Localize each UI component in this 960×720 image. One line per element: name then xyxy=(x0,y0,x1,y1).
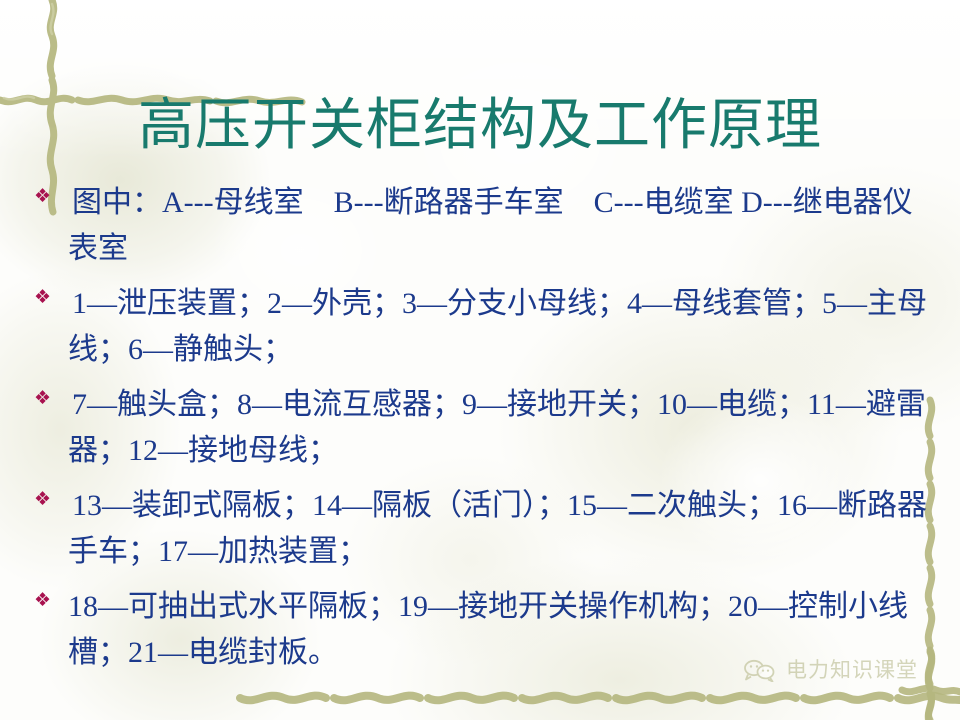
bullet-diamond-icon: ❖ xyxy=(34,281,68,307)
list-item: ❖ 图中：A---母线室 B---断路器手车室 C---电缆室 D---继电器仪… xyxy=(34,180,934,272)
page-title: 高压开关柜结构及工作原理 xyxy=(0,96,960,156)
bullet-diamond-icon: ❖ xyxy=(34,180,68,206)
list-item: ❖ 1—泄压装置；2—外壳；3—分支小母线；4—母线套管；5—主母线；6—静触头… xyxy=(34,281,934,373)
bullet-diamond-icon: ❖ xyxy=(34,382,68,408)
list-item-text: 7—触头盒；8—电流互感器；9—接地开关；10—电缆；11—避雷器；12—接地母… xyxy=(68,382,934,474)
bullet-diamond-icon: ❖ xyxy=(34,584,68,610)
list-item-text: 图中：A---母线室 B---断路器手车室 C---电缆室 D---继电器仪表室 xyxy=(68,180,934,272)
list-item-text: 13—装卸式隔板；14—隔板（活门）；15—二次触头；16—断路器手车；17—加… xyxy=(68,483,934,575)
list-item: ❖ 7—触头盒；8—电流互感器；9—接地开关；10—电缆；11—避雷器；12—接… xyxy=(34,382,934,474)
list-item: ❖ 13—装卸式隔板；14—隔板（活门）；15—二次触头；16—断路器手车；17… xyxy=(34,483,934,575)
list-item-text: 18—可抽出式水平隔板；19—接地开关操作机构；20—控制小线槽；21—电缆封板… xyxy=(68,584,934,676)
bullet-list: ❖ 图中：A---母线室 B---断路器手车室 C---电缆室 D---继电器仪… xyxy=(34,180,934,685)
list-item: ❖ 18—可抽出式水平隔板；19—接地开关操作机构；20—控制小线槽；21—电缆… xyxy=(34,584,934,676)
list-item-text: 1—泄压装置；2—外壳；3—分支小母线；4—母线套管；5—主母线；6—静触头； xyxy=(68,281,934,373)
bullet-diamond-icon: ❖ xyxy=(34,483,68,509)
slide-canvas: 高压开关柜结构及工作原理 ❖ 图中：A---母线室 B---断路器手车室 C--… xyxy=(0,0,960,720)
